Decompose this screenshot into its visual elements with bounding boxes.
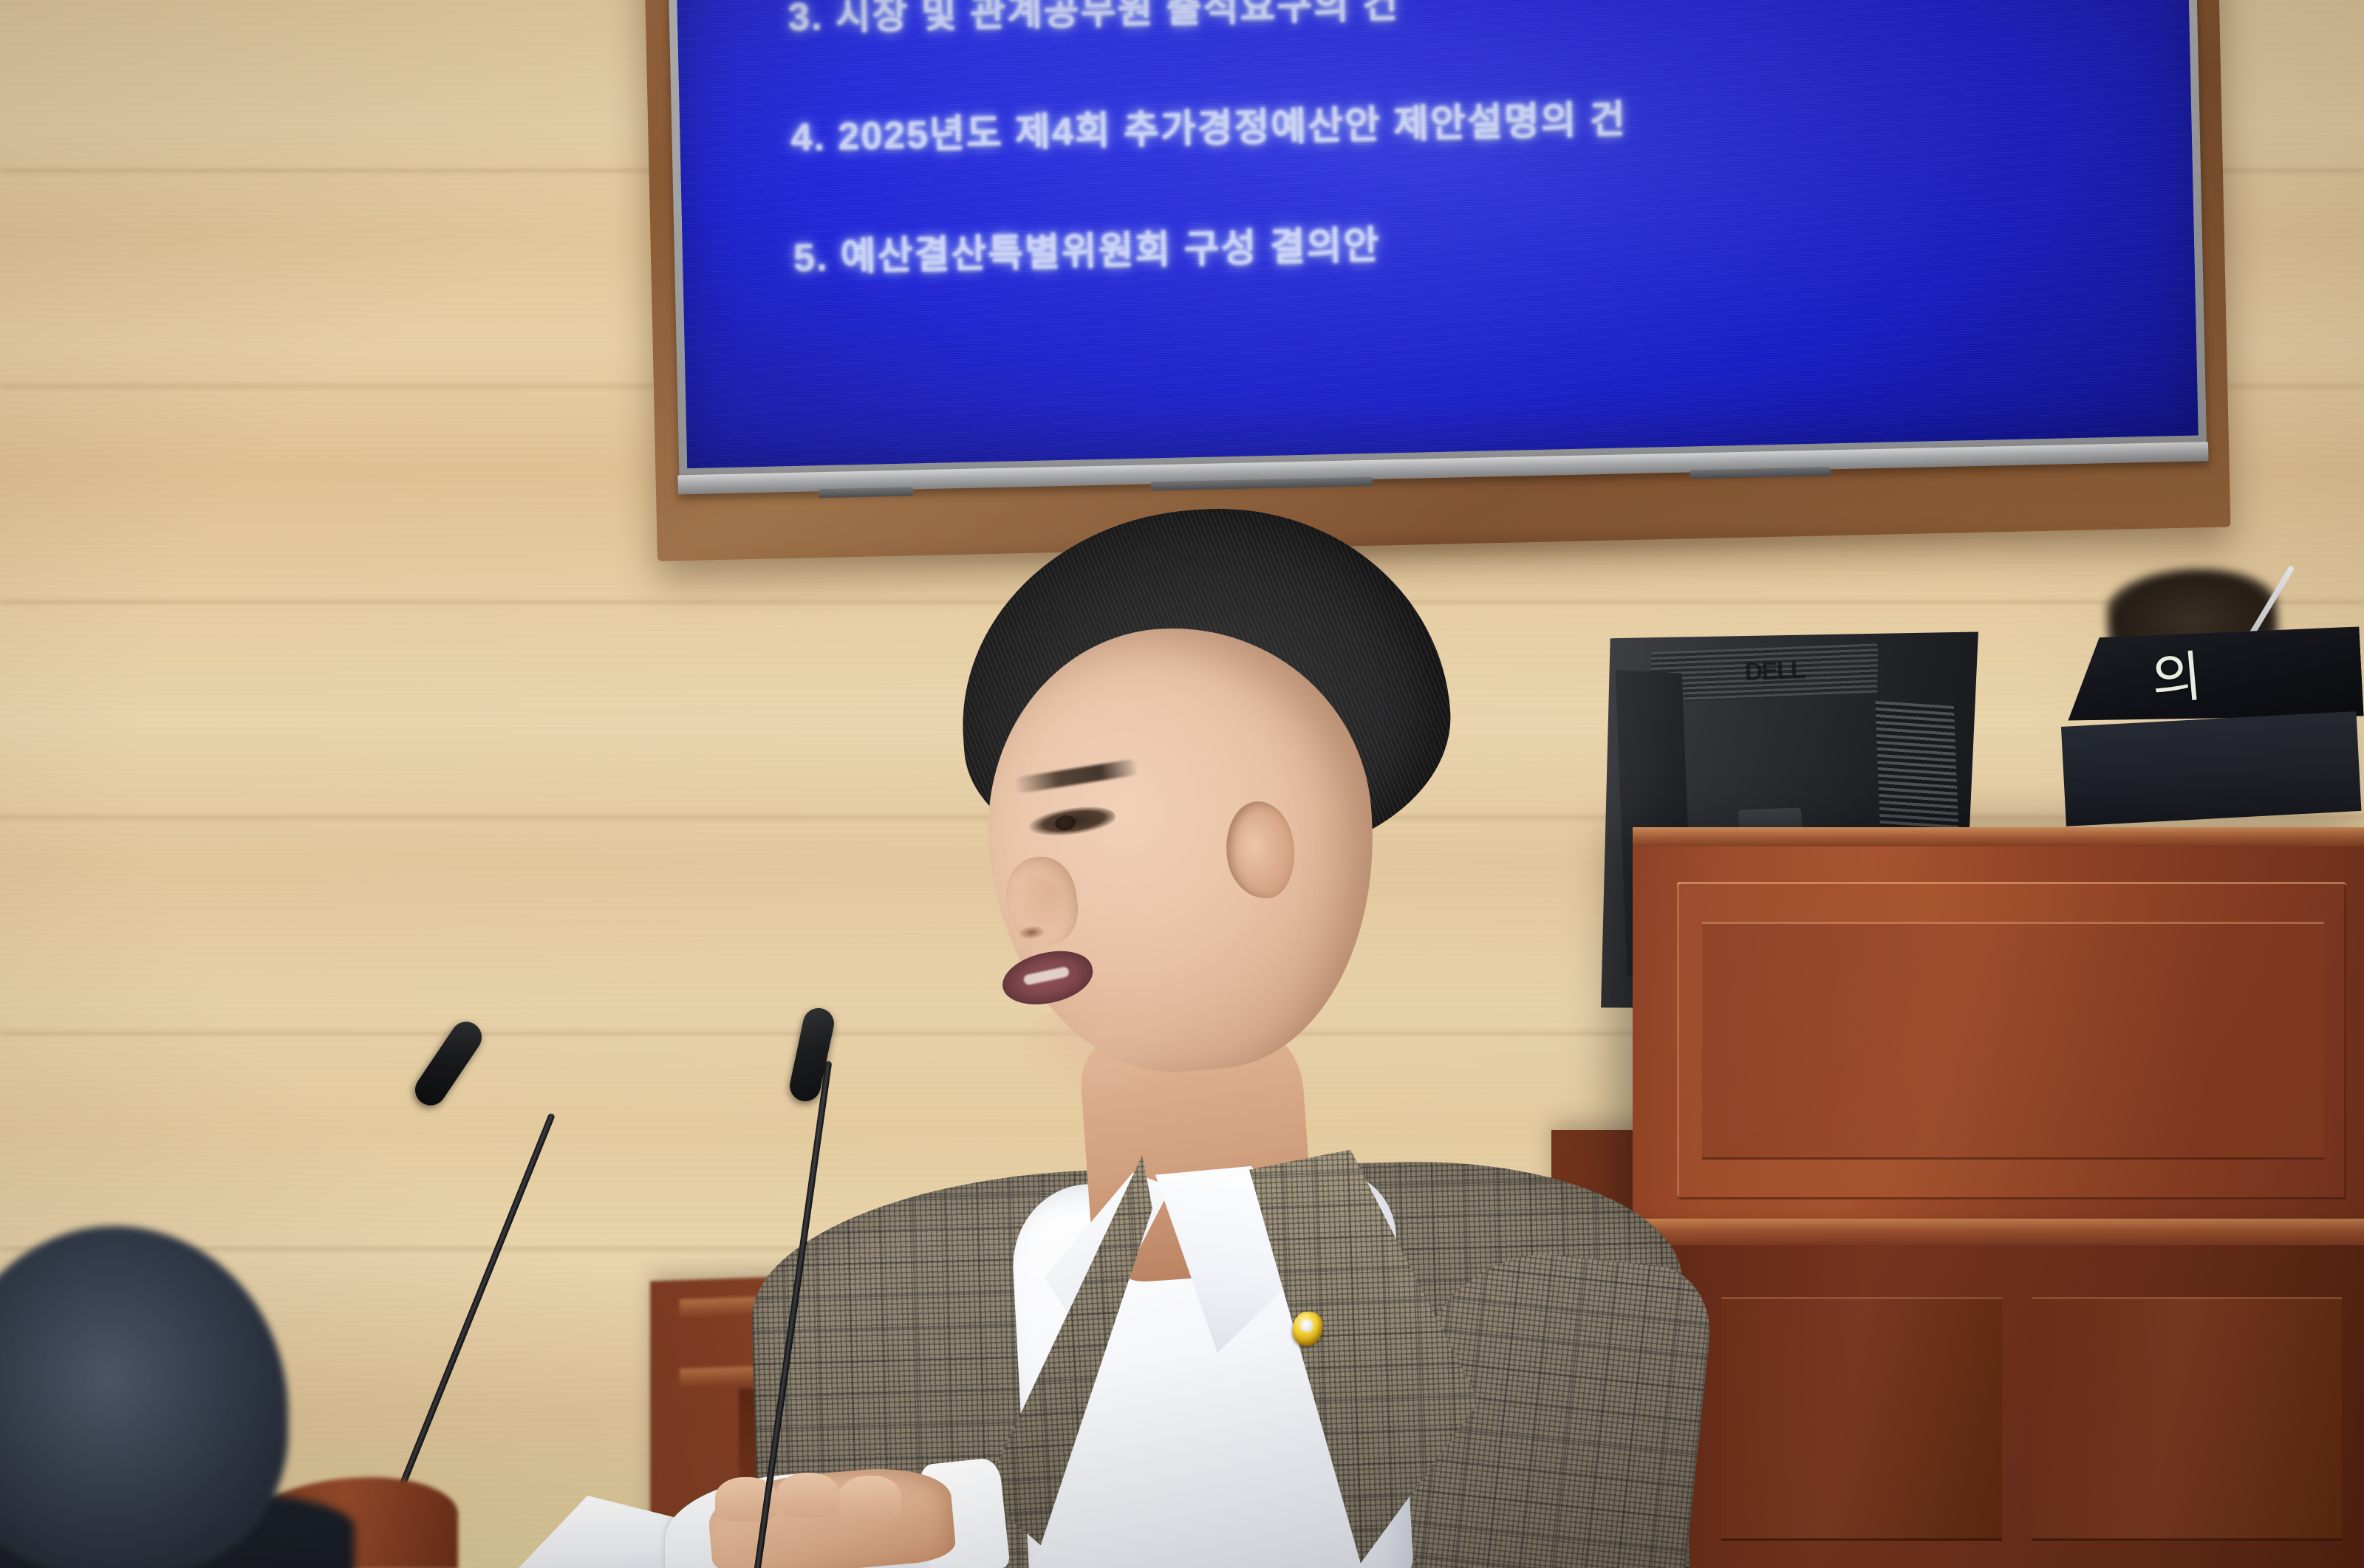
dais-lower-body	[1633, 1245, 2364, 1568]
screen-mount-bracket	[1151, 477, 1373, 491]
dais-door-panel	[1721, 1297, 2002, 1541]
screen-mount-bracket	[1690, 467, 1831, 479]
dais-door-panel	[2032, 1297, 2342, 1541]
agenda-item-3: 3. 시장 및 관계공무원 출석요구의 건	[788, 0, 2159, 41]
nameplate-body	[2061, 711, 2362, 826]
council-member-speaking	[842, 510, 1670, 1568]
dell-logo: DELL	[1744, 656, 1805, 687]
agenda-item-list: 3. 시장 및 관계공무원 출석요구의 건 4. 2025년도 제4회 추가경정…	[788, 0, 2165, 282]
nameplate-glyph: 의	[2150, 649, 2204, 708]
gooseneck-microphone-right	[561, 1027, 901, 1568]
screen-mount-bracket	[819, 487, 913, 498]
microphone-stem	[754, 1061, 832, 1568]
agenda-item-4: 4. 2025년도 제4회 추가경정예산안 제안설명의 건	[790, 76, 2162, 161]
presiding-dais	[1633, 827, 2364, 1568]
dais-front-panel	[1677, 882, 2346, 1199]
dais-top-edge	[1633, 827, 2364, 846]
dais-ledge	[1628, 1219, 2364, 1248]
agenda-item-5: 5. 예산결산특별위원회 구성 결의안	[793, 196, 2165, 281]
photo-scene: 3. 시장 및 관계공무원 출석요구의 건 4. 2025년도 제4회 추가경정…	[0, 0, 2364, 1568]
screen-bezel: 3. 시장 및 관계공무원 출석요구의 건 4. 2025년도 제4회 추가경정…	[667, 0, 2207, 478]
projection-screen-surface: 3. 시장 및 관계공무원 출석요구의 건 4. 2025년도 제4회 추가경정…	[675, 0, 2199, 468]
dais-panel-inset	[1702, 922, 2324, 1160]
chair-nameplate: 의	[2064, 624, 2364, 824]
screen-wood-frame: 3. 시장 및 관계공무원 출석요구의 건 4. 2025년도 제4회 추가경정…	[643, 0, 2231, 561]
